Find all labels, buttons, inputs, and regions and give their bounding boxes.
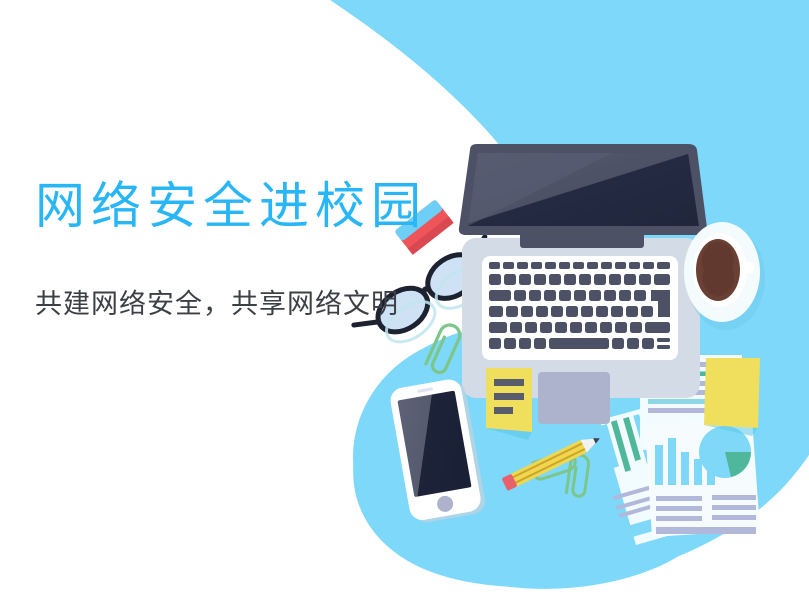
sticky-note-left (486, 368, 532, 440)
coffee-foam (702, 242, 734, 296)
coffee-cup-handle (741, 262, 754, 273)
page-title: 网络安全进校园 (35, 178, 455, 236)
page-subtitle: 共建网络安全，共享网络文明 (35, 236, 455, 320)
paperclip-upper (425, 322, 463, 375)
smartphone (388, 377, 487, 525)
spacebar-key (549, 338, 609, 349)
banner-text-block: 网络安全进校园 共建网络安全，共享网络文明 (35, 178, 455, 320)
sticky-note-right (704, 358, 760, 436)
campus-cybersecurity-banner: 网络安全进校园 共建网络安全，共享网络文明 (0, 0, 809, 607)
document-sheet-front (645, 418, 760, 537)
laptop-trackpad (538, 372, 610, 424)
